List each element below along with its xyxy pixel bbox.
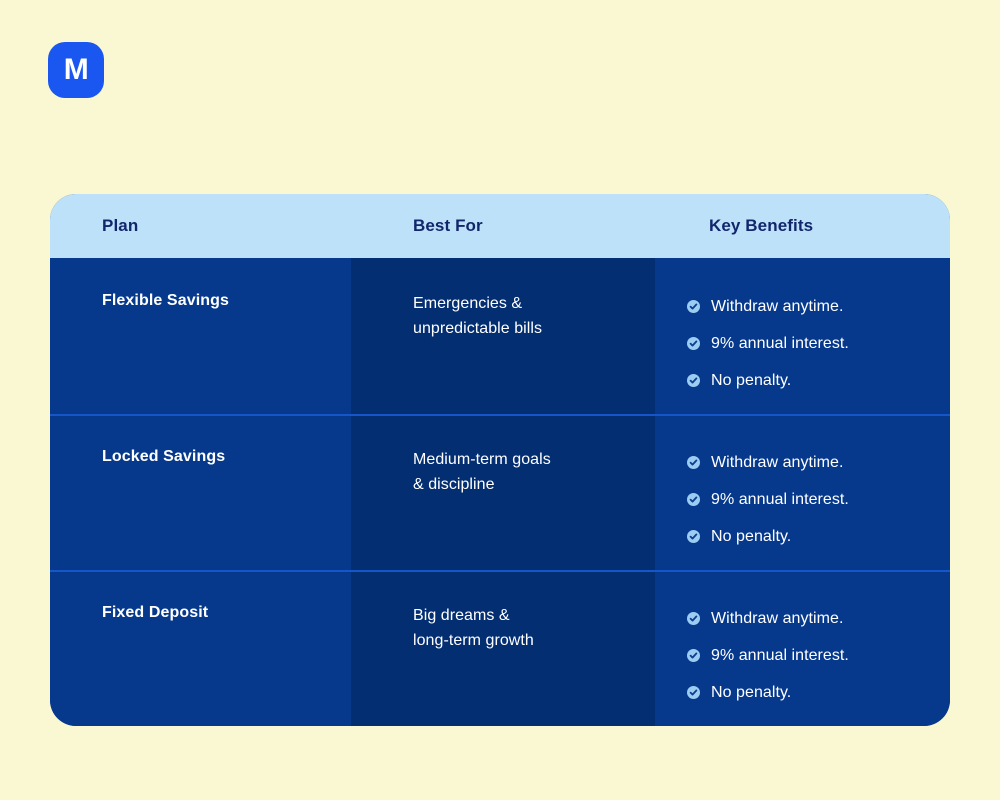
page-root: M Plan Best For Key Benefits Flexible Sa…: [0, 0, 1000, 800]
list-item: 9% annual interest.: [687, 637, 950, 674]
logo-tile: M: [48, 42, 104, 98]
check-circle-icon: [687, 612, 700, 625]
table-row: Fixed Deposit: [50, 570, 351, 726]
check-circle-icon: [687, 686, 700, 699]
best-for-line-1: Emergencies &: [413, 295, 522, 312]
plan-name: Locked Savings: [102, 448, 351, 466]
benefit-text: Withdraw anytime.: [711, 298, 843, 316]
best-for-line-2: long-term growth: [413, 632, 534, 649]
table-row: Withdraw anytime. 9% annual interest.: [655, 414, 950, 570]
column-header-key-benefits: Key Benefits: [655, 194, 950, 258]
benefit-text: No penalty.: [711, 684, 791, 702]
best-for-text: Medium-term goals & discipline: [413, 448, 655, 498]
savings-plan-comparison-table: Plan Best For Key Benefits Flexible Savi…: [50, 194, 950, 726]
list-item: 9% annual interest.: [687, 481, 950, 518]
table-row: Emergencies & unpredictable bills: [351, 258, 655, 414]
list-item: Withdraw anytime.: [687, 288, 950, 325]
check-circle-icon: [687, 337, 700, 350]
benefit-list: Withdraw anytime. 9% annual interest.: [687, 444, 950, 555]
benefit-list: Withdraw anytime. 9% annual interest.: [687, 288, 950, 399]
benefit-text: 9% annual interest.: [711, 491, 849, 509]
list-item: No penalty.: [687, 674, 950, 711]
list-item: 9% annual interest.: [687, 325, 950, 362]
table-row: Withdraw anytime. 9% annual interest.: [655, 258, 950, 414]
best-for-line-2: & discipline: [413, 476, 495, 493]
brand-logo[interactable]: M: [48, 42, 104, 98]
benefit-text: 9% annual interest.: [711, 647, 849, 665]
logo-letter: M: [64, 55, 89, 85]
check-circle-icon: [687, 374, 700, 387]
benefit-text: Withdraw anytime.: [711, 610, 843, 628]
check-circle-icon: [687, 493, 700, 506]
benefit-text: No penalty.: [711, 372, 791, 390]
benefit-list: Withdraw anytime. 9% annual interest.: [687, 600, 950, 711]
best-for-line-2: unpredictable bills: [413, 320, 542, 337]
check-circle-icon: [687, 456, 700, 469]
table-row: Medium-term goals & discipline: [351, 414, 655, 570]
table-row: Locked Savings: [50, 414, 351, 570]
list-item: No penalty.: [687, 362, 950, 399]
best-for-line-1: Medium-term goals: [413, 451, 551, 468]
table-grid: Plan Best For Key Benefits Flexible Savi…: [50, 194, 950, 726]
benefit-text: 9% annual interest.: [711, 335, 849, 353]
check-circle-icon: [687, 300, 700, 313]
column-header-plan: Plan: [50, 194, 351, 258]
plan-name: Flexible Savings: [102, 292, 351, 310]
table-row: Flexible Savings: [50, 258, 351, 414]
benefit-text: No penalty.: [711, 528, 791, 546]
check-circle-icon: [687, 530, 700, 543]
best-for-text: Big dreams & long-term growth: [413, 604, 655, 654]
benefit-text: Withdraw anytime.: [711, 454, 843, 472]
column-header-best-for: Best For: [351, 194, 655, 258]
list-item: Withdraw anytime.: [687, 600, 950, 637]
plan-name: Fixed Deposit: [102, 604, 351, 622]
best-for-line-1: Big dreams &: [413, 607, 510, 624]
list-item: No penalty.: [687, 518, 950, 555]
table-row: Withdraw anytime. 9% annual interest.: [655, 570, 950, 726]
best-for-text: Emergencies & unpredictable bills: [413, 292, 655, 342]
list-item: Withdraw anytime.: [687, 444, 950, 481]
check-circle-icon: [687, 649, 700, 662]
table-row: Big dreams & long-term growth: [351, 570, 655, 726]
